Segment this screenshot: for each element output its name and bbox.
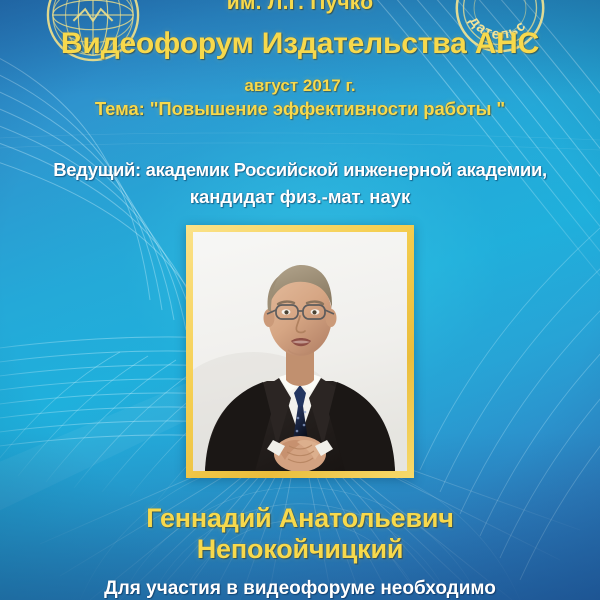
- participation-note: Для участия в видеофоруме необходимо: [0, 578, 600, 599]
- speaker-name-line-2: Непокойчицкий: [0, 534, 600, 564]
- poster-date: август 2017 г.: [0, 76, 600, 95]
- speaker-portrait-illustration: [193, 232, 407, 471]
- header-organization-name: им. Л.Г. Пучко: [0, 0, 600, 15]
- speaker-photo-frame: [186, 225, 414, 478]
- speaker-name-line-1: Геннадий Анатольевич: [0, 503, 600, 533]
- poster-main-title: Видеофорум Издательства АНС: [0, 27, 600, 61]
- video-forum-poster: дательс им. Л.Г. Пучко Видеофорум Издате…: [0, 0, 600, 600]
- host-credentials-line-1: Ведущий: академик Российской инженерной …: [0, 160, 600, 181]
- poster-topic: Тема: "Повышение эффективности работы ": [0, 99, 600, 120]
- host-credentials-line-2: кандидат физ.-мат. наук: [0, 187, 600, 208]
- speaker-photo: [193, 232, 407, 471]
